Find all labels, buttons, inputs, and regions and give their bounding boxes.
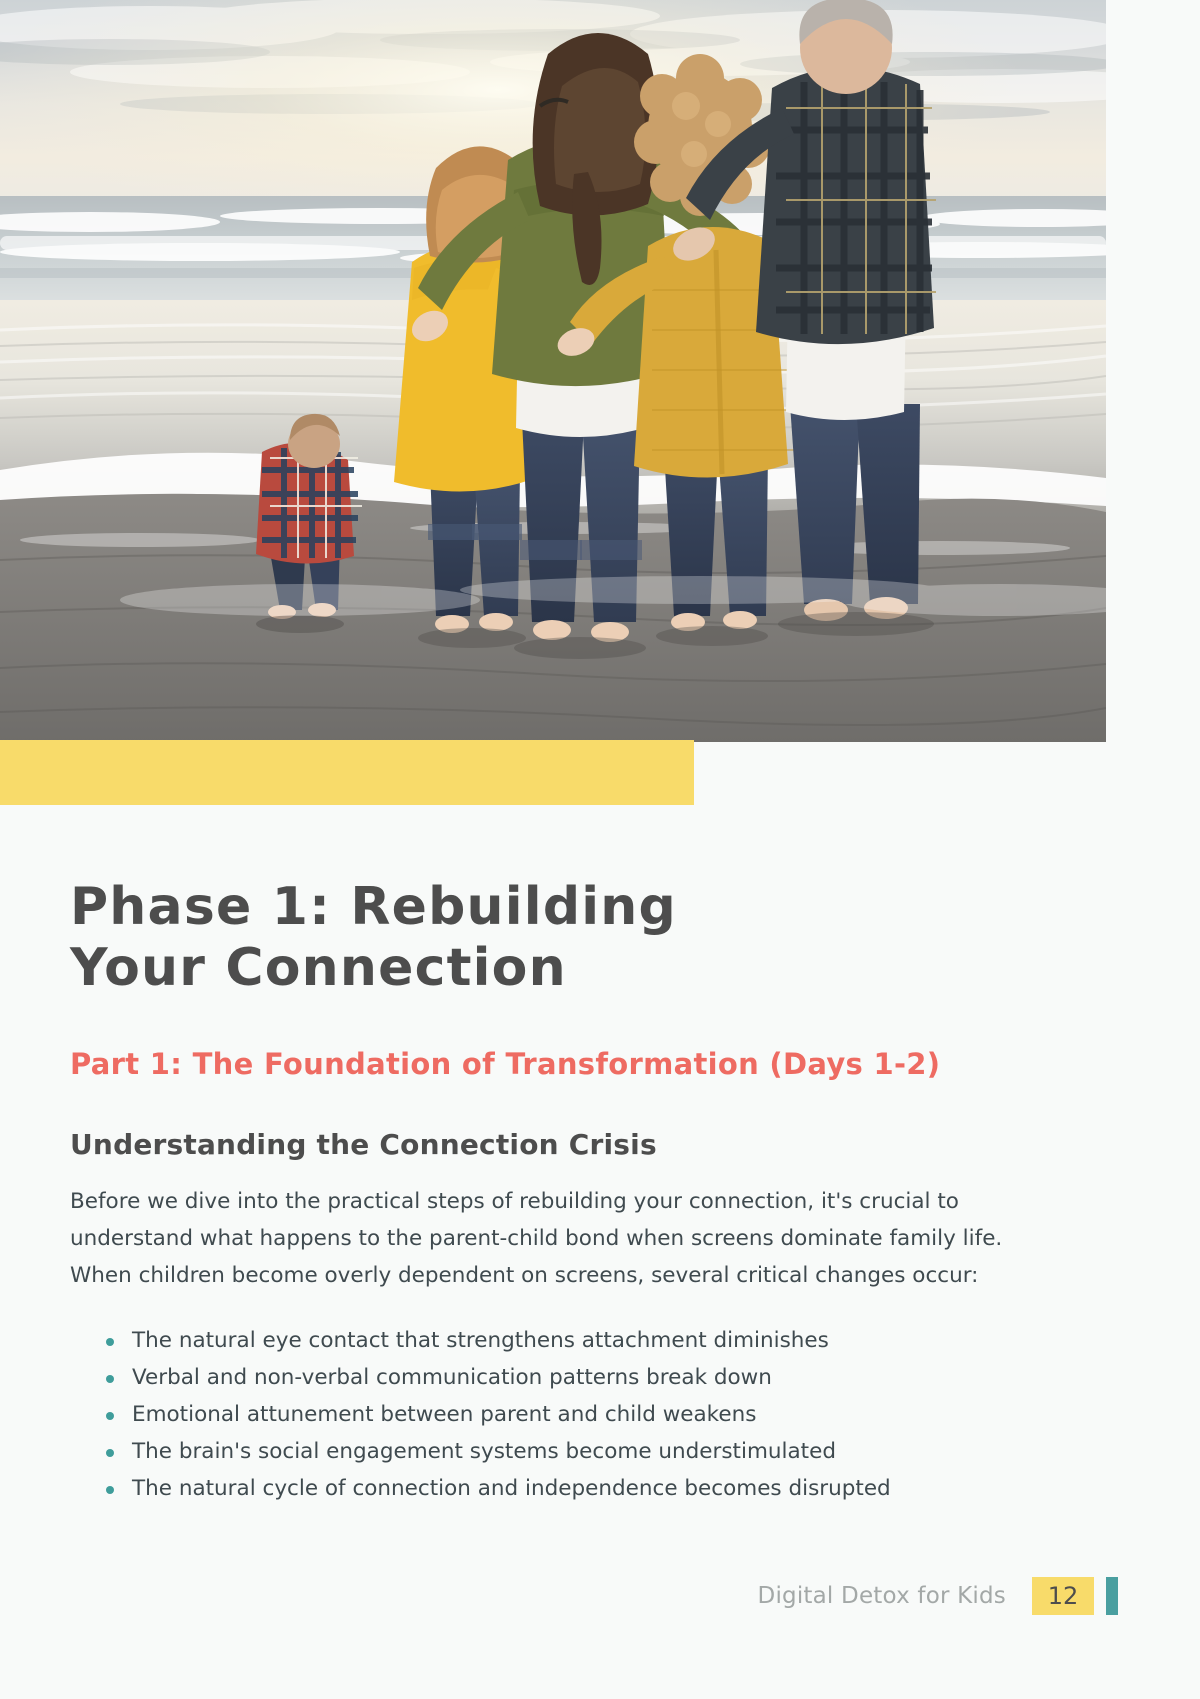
section-heading: Understanding the Connection Crisis bbox=[70, 1127, 1130, 1162]
footer-teal-tick bbox=[1106, 1577, 1118, 1615]
list-item-label: The natural cycle of connection and inde… bbox=[132, 1476, 891, 1501]
list-item: The natural eye contact that strengthens… bbox=[92, 1323, 1130, 1360]
bullet-dot-icon bbox=[106, 1449, 114, 1457]
yellow-accent-bar bbox=[0, 740, 694, 805]
page-number-badge: 12 bbox=[1032, 1577, 1094, 1615]
list-item-label: Verbal and non-verbal communication patt… bbox=[132, 1365, 772, 1390]
beach-scene-illustration bbox=[0, 0, 1106, 742]
bullet-dot-icon bbox=[106, 1412, 114, 1420]
list-item-label: Emotional attunement between parent and … bbox=[132, 1402, 756, 1427]
bullet-dot-icon bbox=[106, 1338, 114, 1346]
list-item: The natural cycle of connection and inde… bbox=[92, 1471, 1130, 1508]
hero-photo bbox=[0, 0, 1106, 742]
list-item-label: The natural eye contact that strengthens… bbox=[132, 1328, 829, 1353]
effects-bullet-list: The natural eye contact that strengthens… bbox=[70, 1323, 1130, 1508]
part-title: Part 1: The Foundation of Transformation… bbox=[70, 1046, 1020, 1083]
body-paragraph: Before we dive into the practical steps … bbox=[70, 1184, 1050, 1295]
list-item: Emotional attunement between parent and … bbox=[92, 1397, 1130, 1434]
page-content: Phase 1: Rebuilding Your Connection Part… bbox=[0, 805, 1200, 1699]
list-item: Verbal and non-verbal communication patt… bbox=[92, 1360, 1130, 1397]
page-footer: Digital Detox for Kids 12 bbox=[758, 1577, 1200, 1615]
document-page: Phase 1: Rebuilding Your Connection Part… bbox=[0, 0, 1200, 1699]
list-item: The brain's social engagement systems be… bbox=[92, 1434, 1130, 1471]
page-title: Phase 1: Rebuilding Your Connection bbox=[70, 877, 830, 1000]
bullet-dot-icon bbox=[106, 1375, 114, 1383]
bullet-dot-icon bbox=[106, 1486, 114, 1494]
footer-book-title: Digital Detox for Kids bbox=[758, 1583, 1006, 1609]
list-item-label: The brain's social engagement systems be… bbox=[132, 1439, 836, 1464]
